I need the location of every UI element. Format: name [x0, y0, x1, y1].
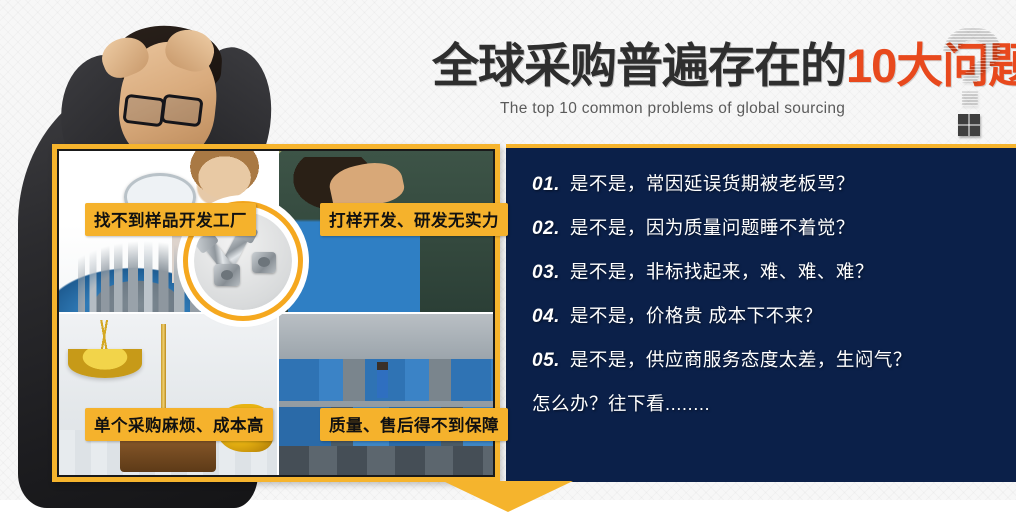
- factory-artwork: [279, 314, 493, 475]
- list-item-number: 05.: [532, 350, 560, 372]
- tag-single-purchase-cost: 单个采购麻烦、成本高: [85, 408, 273, 441]
- list-item: 04. 是不是，价格贵 成本下不来？: [532, 302, 1000, 328]
- scale-pan-with-gold: [68, 349, 142, 378]
- list-item: 02. 是不是，因为质量问题睡不着觉？: [532, 214, 1000, 240]
- tag-no-quality-aftersales: 质量、售后得不到保障: [320, 408, 508, 441]
- page-title-main: 全球采购普遍存在的: [432, 39, 846, 92]
- list-item-number: 03.: [532, 262, 560, 284]
- problems-list: 01. 是不是，常因延误货期被老板骂？ 02. 是不是，因为质量问题睡不着觉？ …: [532, 170, 1000, 416]
- factory-machine-row-3: [279, 446, 493, 475]
- header-block: 全球采购普遍存在的10大问题 The top 10 common problem…: [432, 42, 952, 142]
- page-title: 全球采购普遍存在的10大问题: [432, 42, 952, 89]
- list-item-text: 是不是，因为质量问题睡不着觉？: [570, 214, 855, 240]
- businessman-glasses-left: [122, 94, 165, 128]
- tag-no-rnd-capability: 打样开发、研发无实力: [320, 203, 508, 236]
- list-item-number: 01.: [532, 174, 560, 196]
- hex-nut-left: [214, 264, 240, 286]
- list-item-number: 04.: [532, 306, 560, 328]
- question-mark-glyph: ?: [938, 12, 1006, 124]
- panel-footnote: 怎么办？往下看........: [532, 390, 1000, 416]
- factory-worker: [377, 362, 388, 397]
- list-item: 03. 是不是，非标找起来，难、难、难？: [532, 258, 1000, 284]
- collage-photo-factory: [279, 314, 493, 475]
- hex-nut-right: [252, 252, 276, 273]
- list-item-text: 是不是，常因延误货期被老板骂？: [570, 170, 855, 196]
- scale-artwork: [59, 314, 277, 475]
- list-item-text: 是不是，非标找起来，难、难、难？: [570, 258, 874, 284]
- businessman-glasses-right: [160, 94, 203, 128]
- scale-wooden-base: [120, 436, 216, 471]
- collage-photo-balance-scale: [59, 314, 277, 475]
- scale-chains: [72, 320, 137, 352]
- list-item-text: 是不是，供应商服务态度太差，生闷气？: [570, 346, 912, 372]
- list-item: 05. 是不是，供应商服务态度太差，生闷气？: [532, 346, 1000, 372]
- list-item: 01. 是不是，常因延误货期被老板骂？: [532, 170, 1000, 196]
- list-item-text: 是不是，价格贵 成本下不来？: [570, 302, 823, 328]
- problems-panel: 01. 是不是，常因延误货期被老板骂？ 02. 是不是，因为质量问题睡不着觉？ …: [506, 144, 1016, 482]
- question-mark-icon: ? ?: [938, 18, 1010, 136]
- question-mark-dot: [958, 114, 980, 136]
- poster-canvas: 全球采购普遍存在的10大问题 The top 10 common problem…: [0, 0, 1016, 531]
- page-subtitle: The top 10 common problems of global sou…: [500, 100, 845, 118]
- list-item-number: 02.: [532, 218, 560, 240]
- tag-no-sample-factory: 找不到样品开发工厂: [85, 203, 256, 236]
